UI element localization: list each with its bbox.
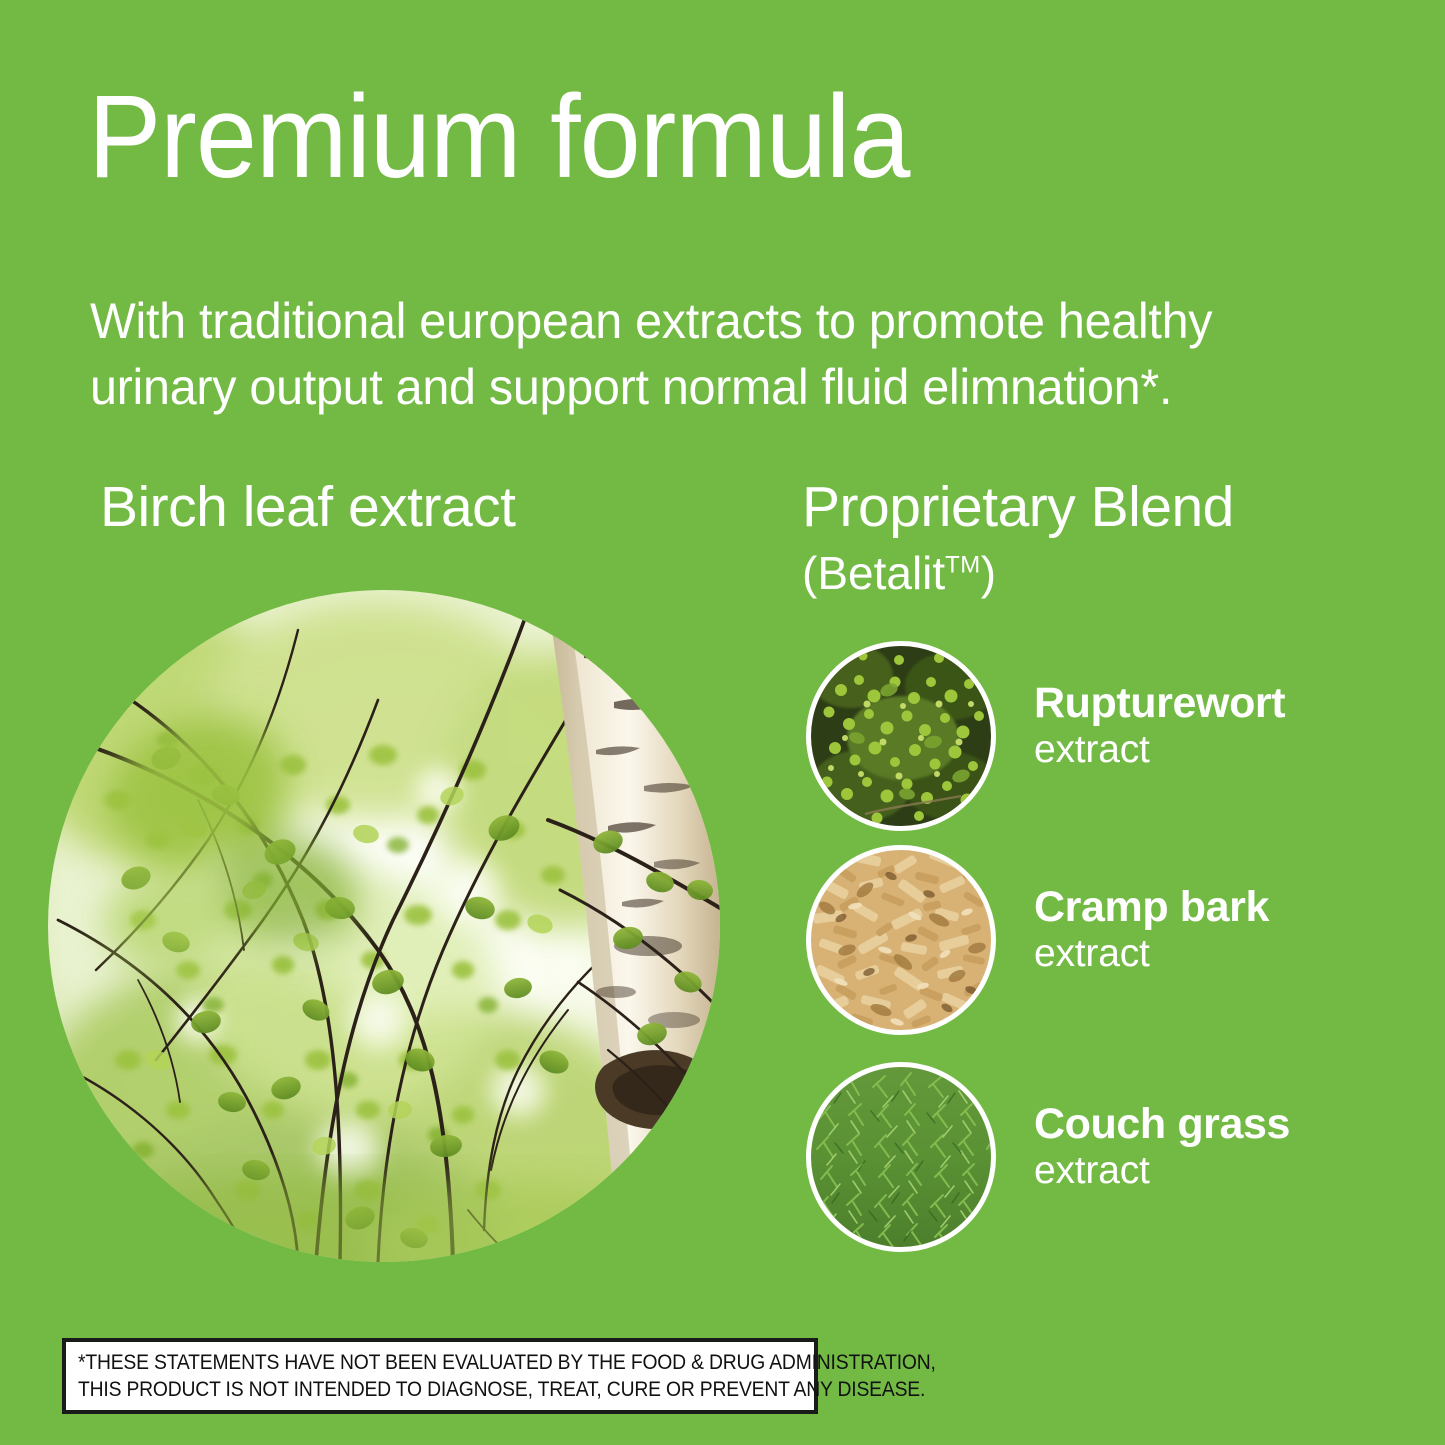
birch-canopy-illustration — [48, 590, 720, 1262]
section-heading-proprietary-blend: Proprietary Blend — [802, 478, 1234, 538]
cramp-bark-text: Cramp bark extract — [1034, 883, 1269, 977]
cramp-bark-image — [806, 845, 996, 1035]
ingredient-form: extract — [1034, 727, 1285, 773]
ingredient-name: Couch grass — [1034, 1100, 1290, 1148]
cramp-bark-illustration — [811, 850, 991, 1030]
page-title: Premium formula — [88, 78, 909, 196]
ingredient-row-cramp-bark: Cramp bark extract — [806, 845, 1406, 1037]
ingredient-form: extract — [1034, 1148, 1290, 1194]
page-subtitle: With traditional european extracts to pr… — [90, 288, 1351, 420]
couch-grass-illustration — [811, 1067, 991, 1247]
fda-disclaimer-box: *THESE STATEMENTS HAVE NOT BEEN EVALUATE… — [62, 1338, 818, 1414]
ingredient-row-rupturewort: Rupturewort extract — [806, 641, 1406, 833]
ingredient-form: extract — [1034, 931, 1269, 977]
ingredient-row-couch-grass: Couch grass extract — [806, 1062, 1406, 1254]
section-subheading-betalit: (BetalitTM) — [802, 548, 996, 599]
disclaimer-line-2: THIS PRODUCT IS NOT INTENDED TO DIAGNOSE… — [78, 1376, 797, 1403]
ingredient-name: Rupturewort — [1034, 679, 1285, 727]
rupturewort-image — [806, 641, 996, 831]
section-heading-birch-leaf: Birch leaf extract — [100, 478, 516, 538]
couch-grass-image — [806, 1062, 996, 1252]
ingredient-name: Cramp bark — [1034, 883, 1269, 931]
betalit-open: (Betalit — [802, 547, 945, 599]
rupturewort-text: Rupturewort extract — [1034, 679, 1285, 773]
birch-leaf-image — [48, 590, 720, 1262]
fda-disclaimer-text: *THESE STATEMENTS HAVE NOT BEEN EVALUATE… — [78, 1349, 797, 1404]
rupturewort-illustration — [811, 646, 991, 826]
betalit-close: ) — [981, 547, 996, 599]
product-infographic: Premium formula With traditional europea… — [0, 0, 1445, 1445]
disclaimer-line-1: *THESE STATEMENTS HAVE NOT BEEN EVALUATE… — [78, 1349, 797, 1376]
trademark-symbol: TM — [945, 552, 981, 579]
couch-grass-text: Couch grass extract — [1034, 1100, 1290, 1194]
